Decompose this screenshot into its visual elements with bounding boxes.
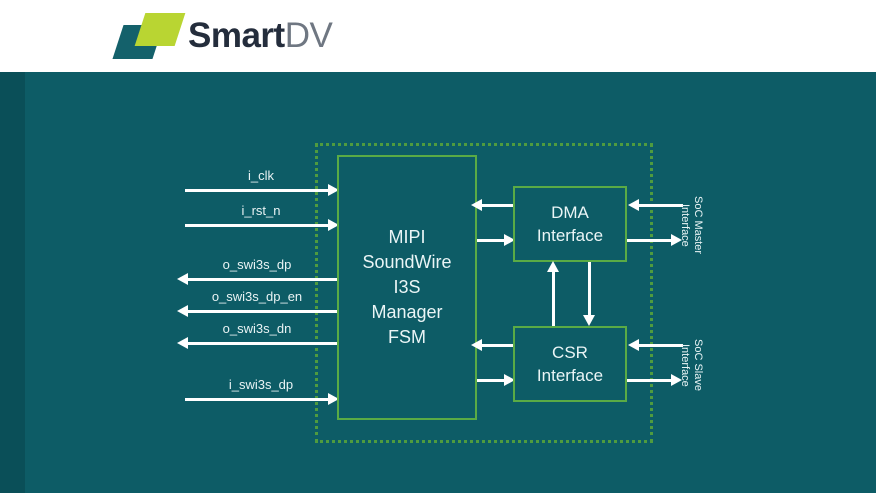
link-dma-to-csr-line [588,262,591,317]
brand-wordmark-bold: Smart [188,16,285,55]
link-dma-to-fsm-line [480,204,513,207]
page-header: SmartDV [0,0,876,72]
soc-master-interface-label: SoC Master Interface [688,180,704,270]
arrow-up-icon [547,261,559,272]
brand-wordmark-light: DV [285,16,333,55]
signal-line [185,224,331,227]
smartdv-logo[interactable]: SmartDV [118,10,358,62]
signal-o-swi3s-dn: o_swi3s_dn [177,321,337,351]
arrow-left-icon [177,337,188,349]
link-csr-to-dma-line [552,271,555,326]
link-socmaster-to-dma-line [637,204,683,207]
signal-i-swi3s-dp: i_swi3s_dp [185,377,337,407]
signal-label: o_swi3s_dp [177,257,337,273]
signal-o-swi3s-dp-en: o_swi3s_dp_en [177,289,337,319]
link-csr-to-socslave-line [627,379,673,382]
block-diagram-canvas: i_clk i_rst_n o_swi3s_dp o_swi3s_dp_en o… [0,72,876,493]
link-dma-to-socmaster-line [627,239,673,242]
signal-label: o_swi3s_dp_en [177,289,337,305]
dma-block-label: DMA Interface [537,201,603,247]
arrow-left-icon [628,339,639,351]
link-socslave-to-csr-line [637,344,683,347]
arrow-down-icon [583,315,595,326]
soc-slave-interface-label: SoC Slave Interface [688,320,704,410]
arrow-left-icon [177,273,188,285]
signal-label: i_swi3s_dp [185,377,337,393]
arrow-left-icon [628,199,639,211]
signal-o-swi3s-dp: o_swi3s_dp [177,257,337,287]
arrow-left-icon [471,339,482,351]
signal-label: o_swi3s_dn [177,321,337,337]
arrow-left-icon [177,305,188,317]
smartdv-logo-mark [118,13,180,59]
signal-i-clk: i_clk [185,168,337,198]
brand-wordmark: SmartDV [188,16,332,56]
fsm-block-label: MIPI SoundWire I3S Manager FSM [362,225,451,350]
arrow-left-icon [471,199,482,211]
signal-line [186,342,337,345]
signal-label: i_rst_n [185,203,337,219]
signal-label: i_clk [185,168,337,184]
csr-interface-block[interactable]: CSR Interface [513,326,627,402]
signal-line [186,310,337,313]
link-csr-to-fsm-line [480,344,513,347]
mipi-soundwire-i3s-manager-fsm-block[interactable]: MIPI SoundWire I3S Manager FSM [337,155,477,420]
signal-line [185,189,331,192]
canvas-left-strip [0,72,25,493]
signal-i-rst-n: i_rst_n [185,203,337,233]
logo-parallelogram-green [135,13,186,46]
signal-line [186,278,337,281]
signal-line [185,398,331,401]
csr-block-label: CSR Interface [537,341,603,387]
dma-interface-block[interactable]: DMA Interface [513,186,627,262]
